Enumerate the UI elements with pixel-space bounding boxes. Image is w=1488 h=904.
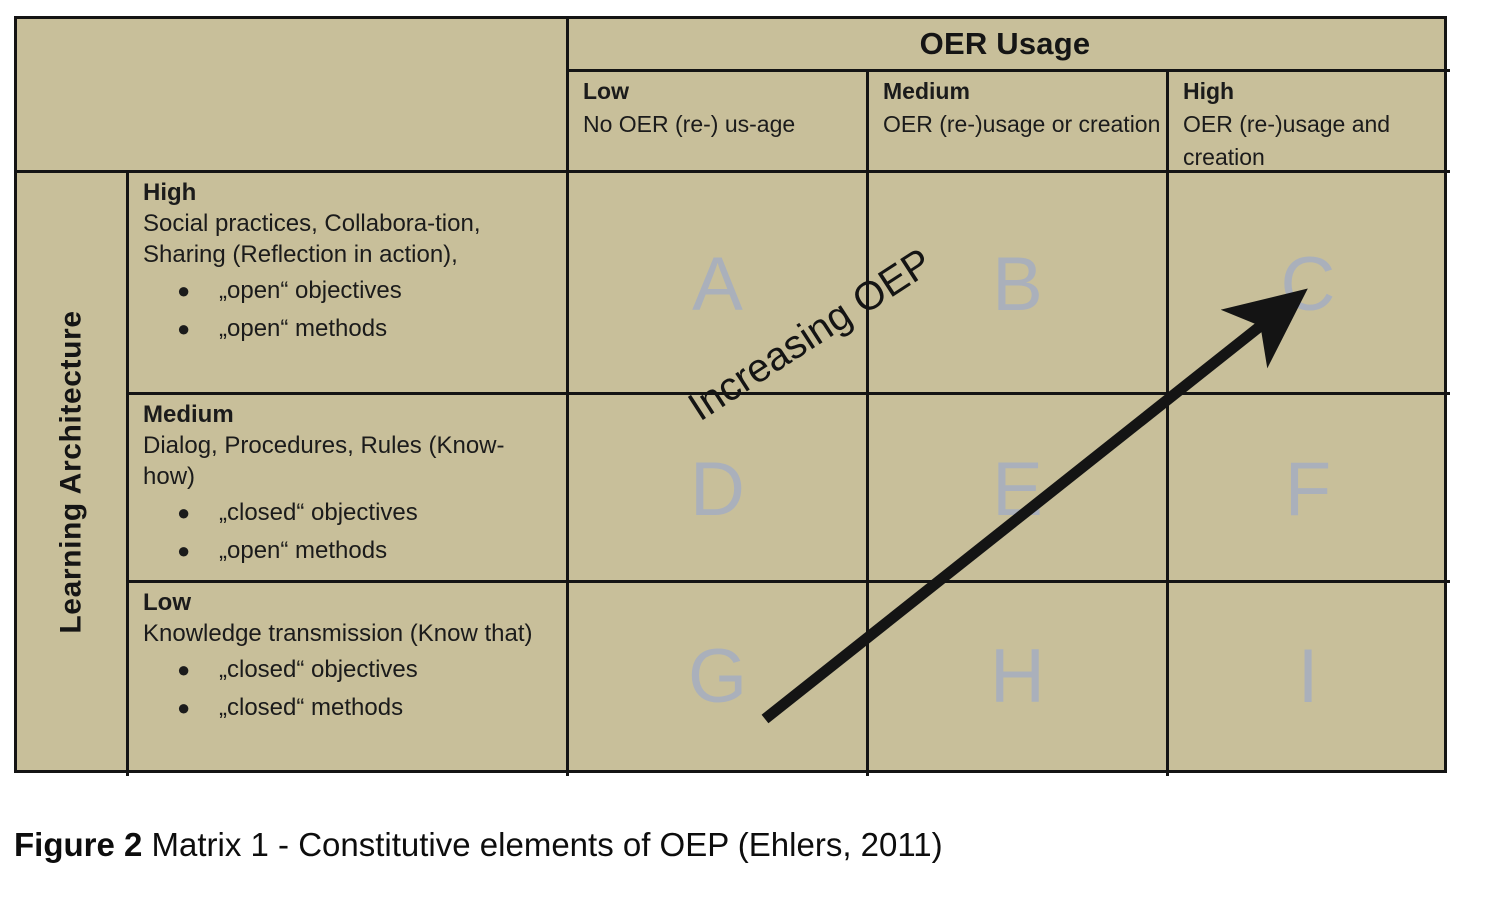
row-axis-title: Learning Architecture xyxy=(17,173,126,770)
figure-canvas: OER Usage Low No OER (re-) us-age Medium… xyxy=(0,0,1488,904)
figure-caption: Figure 2 Matrix 1 - Constitutive element… xyxy=(14,826,943,864)
matrix-cell-c: C xyxy=(1169,173,1447,395)
list-item-label: „open“ methods xyxy=(219,537,387,564)
bullet-icon: ● xyxy=(177,310,190,348)
figure-caption-text: Matrix 1 - Constitutive elements of OEP … xyxy=(142,826,942,863)
row-axis-title-text: Learning Architecture xyxy=(55,310,89,633)
grid-line-header-split xyxy=(566,69,1450,72)
list-item: ●„closed“ objectives xyxy=(219,494,556,532)
column-header-medium: Medium OER (re-)usage or creation xyxy=(869,75,1164,175)
bullet-icon: ● xyxy=(177,272,190,310)
oep-matrix-table: OER Usage Low No OER (re-) us-age Medium… xyxy=(14,16,1447,773)
row-header-high: High Social practices, Collabora-tion, S… xyxy=(129,173,566,395)
matrix-cell-b: B xyxy=(869,173,1166,395)
matrix-cell-a: A xyxy=(569,173,866,395)
list-item-label: „closed“ objectives xyxy=(219,499,418,526)
row-header-low-title: Low xyxy=(143,587,556,618)
list-item: ●„closed“ methods xyxy=(219,689,556,727)
row-header-low-description: Knowledge transmission (Know that) xyxy=(143,618,556,649)
list-item: ●„open“ methods xyxy=(219,310,556,348)
column-axis-title: OER Usage xyxy=(566,19,1444,69)
column-header-high-description: OER (re-)usage and creation xyxy=(1183,108,1447,174)
row-header-medium-title: Medium xyxy=(143,399,556,430)
row-header-low-bullets: ●„closed“ objectives ●„closed“ methods xyxy=(143,651,556,727)
column-header-high: High OER (re-)usage and creation xyxy=(1169,75,1447,175)
row-header-medium-bullets: ●„closed“ objectives ●„open“ methods xyxy=(143,494,556,570)
row-header-high-title: High xyxy=(143,177,556,208)
figure-caption-label: Figure 2 xyxy=(14,826,142,863)
row-header-high-description: Social practices, Collabora-tion, Sharin… xyxy=(143,208,556,270)
column-header-high-title: High xyxy=(1183,75,1447,108)
matrix-cell-h: H xyxy=(869,583,1166,770)
column-header-low-description: No OER (re-) us-age xyxy=(583,108,864,141)
list-item: ●„closed“ objectives xyxy=(219,651,556,689)
bullet-icon: ● xyxy=(177,532,190,570)
list-item-label: „closed“ objectives xyxy=(219,656,418,683)
bullet-icon: ● xyxy=(177,494,190,532)
column-header-medium-description: OER (re-)usage or creation xyxy=(883,108,1164,141)
column-header-low: Low No OER (re-) us-age xyxy=(569,75,864,175)
row-header-medium-description: Dialog, Procedures, Rules (Know-how) xyxy=(143,430,556,492)
column-header-low-title: Low xyxy=(583,75,864,108)
matrix-cell-g: G xyxy=(569,583,866,770)
list-item-label: „open“ methods xyxy=(219,315,387,342)
matrix-cell-f: F xyxy=(1169,395,1447,583)
row-header-low: Low Knowledge transmission (Know that) ●… xyxy=(129,583,566,770)
matrix-cell-i: I xyxy=(1169,583,1447,770)
row-header-high-bullets: ●„open“ objectives ●„open“ methods xyxy=(143,272,556,348)
matrix-cell-e: E xyxy=(869,395,1166,583)
matrix-cell-d: D xyxy=(569,395,866,583)
list-item: ●„open“ methods xyxy=(219,532,556,570)
list-item-label: „closed“ methods xyxy=(219,694,403,721)
column-header-medium-title: Medium xyxy=(883,75,1164,108)
bullet-icon: ● xyxy=(177,689,190,727)
row-header-medium: Medium Dialog, Procedures, Rules (Know-h… xyxy=(129,395,566,583)
bullet-icon: ● xyxy=(177,651,190,689)
list-item: ●„open“ objectives xyxy=(219,272,556,310)
list-item-label: „open“ objectives xyxy=(219,277,402,304)
